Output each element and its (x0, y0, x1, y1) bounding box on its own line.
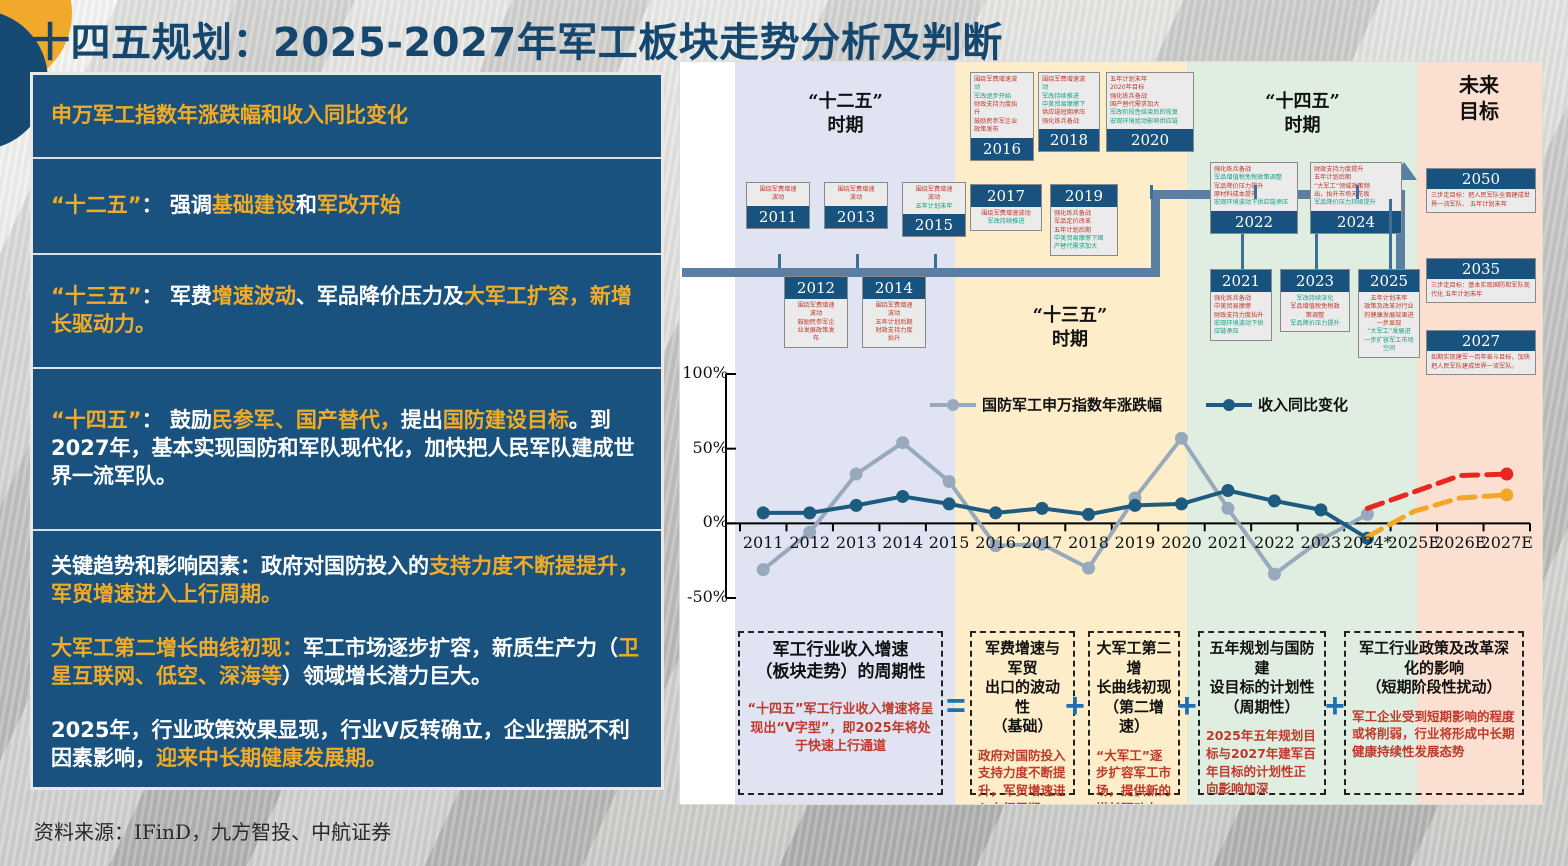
year-card-body-2014: 围绕军费增速波动五年计划后期财政支持力度抬升 (863, 299, 925, 347)
formula-box-sub-3: 2025年五年规划目标与2027年建军百年目标的计划性正向影响加深 (1206, 727, 1318, 798)
year-card-line: 抬升 (866, 335, 922, 343)
year-card-line: 中美贸易摩擦 (1214, 303, 1268, 311)
period-label-future: 未来 目标 (1424, 72, 1534, 125)
left-panel-header: 申万军工指数年涨跌幅和收入同比变化 (33, 75, 661, 159)
year-card-2025[interactable]: 2025五年计划末年政策及改革对行业的健康发展效果进一步显现“大军工”发展进一步… (1358, 269, 1420, 358)
left-panel-trend-1: 关键趋势和影响因素：政府对国防投入的支持力度不断提提升，军贸增速进入上行周期。 (51, 553, 643, 609)
year-card-line: 波动 (750, 194, 806, 202)
year-card-header-2012: 2012 (785, 277, 847, 299)
year-card-line: 军品降价压力提升 (1284, 320, 1346, 328)
year-card-2011[interactable]: 围绕军费增速波动2011 (746, 182, 810, 229)
year-card-line: 军品增值税免税政 (1284, 303, 1346, 311)
year-card-line: 军品增值税免税政策调整 (1214, 174, 1294, 182)
year-card-line: 五年计划末年 (906, 203, 962, 211)
formula-title-line: （基础） (978, 717, 1067, 737)
year-card-line: 五年计划后期 (866, 319, 922, 327)
left-panel-row-135: “十三五”： 军费增速波动、军品降价压力及大军工扩容，新增长驱动力。 (33, 255, 661, 369)
chart-card: “十二五” 时期 “十三五” 时期 “十四五” 时期 未来 目标 围绕军费增速波… (680, 62, 1542, 804)
year-card-connector (1389, 199, 1392, 269)
year-card-line: 强化练兵备战 (1110, 93, 1190, 101)
year-card-line: 供应链短期承压 (1042, 109, 1096, 117)
year-card-header-2025: 2025 (1359, 270, 1419, 292)
year-card-body-2018: 围绕军费增速波动军改持续推进中美贸易摩擦下供应链短期承压强化练兵备战 (1039, 73, 1099, 129)
series-point-0-3 (896, 436, 909, 449)
left-panel-trend-2: 大军工第二增长曲线初现：军工市场逐步扩容，新质生产力（卫星互联网、低空、深海等）… (51, 635, 643, 691)
formula-box-sub-0: “十四五”军工行业收入增速将呈现出“V字型”，即2025年将处于快速上行通道 (746, 701, 935, 756)
year-card-line: 围绕军费增速波 (1042, 76, 1096, 84)
formula-title-line: 军工行业政策及改革深 (1352, 639, 1516, 659)
year-card-line: 财政支持力度抬升 (1214, 312, 1268, 320)
year-card-body-2025: 五年计划末年政策及改革对行业的健康发展效果进一步显现“大军工”发展进一步扩容军工… (1359, 292, 1419, 357)
series-point-1-1 (803, 506, 816, 519)
year-card-line: 政策发布 (974, 126, 1030, 134)
left-summary-panel: 申万军工指数年涨跌幅和收入同比变化 “十二五”： 强调基础建设和军改开始 “十三… (30, 72, 664, 790)
series-point-0-0 (757, 563, 770, 576)
left-panel-row-135-text: “十三五”： 军费增速波动、军品降价压力及大军工扩容，新增长驱动力。 (51, 283, 643, 339)
future-card-2050[interactable]: 2050三步走目标：把人民军队全面建成世界一流军队、 五年计划末年 (1426, 168, 1536, 213)
year-card-header-2023: 2023 (1281, 270, 1349, 292)
series-point-1-6 (1036, 502, 1049, 515)
legend-label-index: 国防军工申万指数年涨跌幅 (982, 394, 1162, 415)
left-panel-row-145: “十四五”： 鼓励民参军、国产替代，提出国防建设目标。到2027年，基本实现国防… (33, 369, 661, 531)
formula-box-title-4: 军工行业政策及改革深化的影响（短期阶段性扰动） (1352, 639, 1516, 698)
year-card-line: 波动 (788, 310, 844, 318)
year-card-header-2024: 2024 (1311, 211, 1401, 233)
series-point-0-11 (1268, 568, 1281, 581)
formula-operator-+: + (1177, 689, 1197, 723)
future-card-body-2050: 三步走目标：把人民军队全面建成世界一流军队、 五年计划末年 (1427, 189, 1535, 212)
year-card-line: 应链承压 (1214, 328, 1268, 336)
year-card-line: 军品定价改革 (1054, 218, 1114, 226)
year-card-header-2022: 2022 (1211, 211, 1297, 233)
left-panel-trend-3: 2025年，行业政策效果显现，行业V反转确立，企业摆脱不利因素影响，迎来中长期健… (51, 717, 643, 773)
formula-box-4[interactable]: 军工行业政策及改革深化的影响（短期阶段性扰动）军工企业受到短期影响的程度或将削弱… (1344, 631, 1524, 795)
series-point-1-3 (896, 490, 909, 503)
year-card-line: 政策及改革对行业 (1362, 303, 1416, 311)
year-card-body-2012: 围绕军费增速波动鼓励民参军企业发展政策发布 (785, 299, 847, 347)
year-card-line: 动 (1042, 84, 1096, 92)
left-panel-row-145-text: “十四五”： 鼓励民参军、国产替代，提出国防建设目标。到2027年，基本实现国防… (51, 407, 643, 491)
period-label-135: “十三五” 时期 (970, 304, 1170, 352)
year-card-body-2013: 围绕军费增速波动 (825, 183, 887, 206)
formula-operator-+: + (1065, 689, 1085, 723)
year-card-header-2021: 2021 (1211, 270, 1271, 292)
series-point-1-10 (1221, 484, 1234, 497)
year-card-line: 强化练兵备战 (1042, 118, 1096, 126)
formula-title-line: 化的影响 (1352, 659, 1516, 679)
year-card-line: 军改持续推进 (1042, 93, 1096, 101)
year-card-line: 2020年目标 (1110, 84, 1190, 92)
series-point-0-7 (1082, 562, 1095, 575)
legend-label-revenue: 收入同比变化 (1258, 394, 1348, 415)
formula-title-line: （第二增速） (1096, 698, 1172, 737)
future-card-header-2050: 2050 (1427, 169, 1535, 189)
formula-row: 军工行业收入增速（板块走势）的周期性“十四五”军工行业收入增速将呈现出“V字型”… (680, 627, 1542, 804)
chart-legend: 国防军工申万指数年涨跌幅 收入同比变化 (930, 394, 1348, 415)
legend-item-index: 国防军工申万指数年涨跌幅 (930, 394, 1162, 415)
year-card-body-2019: 强化练兵备战军品定价改革五年计划后期中美贸易摩擦下国产替代需求加大 (1051, 207, 1117, 255)
formula-title-line: 长曲线初现 (1096, 678, 1172, 698)
year-card-header-2013: 2013 (825, 206, 887, 228)
formula-box-sub-4: 军工企业受到短期影响的程度或将削弱，行业将形成中长期健康持续性发展态势 (1352, 708, 1516, 761)
year-card-connector (934, 254, 937, 268)
series-point-1-4 (943, 497, 956, 510)
year-card-line: 军品降价压力持续提升 (1314, 199, 1398, 207)
series-point-1-2 (850, 499, 863, 512)
year-card-line: 围绕军费增速波 (974, 76, 1030, 84)
year-card-connector (1356, 185, 1359, 199)
left-panel-row-125: “十二五”： 强调基础建设和军改开始 (33, 159, 661, 255)
formula-box-title-1: 军费增速与军贸出口的波动性（基础） (978, 639, 1067, 737)
timeline-spine-left (682, 268, 752, 277)
series-point-1-0 (757, 506, 770, 519)
legend-swatch-index (930, 403, 976, 407)
year-card-line: 的健康发展效果进 (1362, 312, 1416, 320)
year-card-2023[interactable]: 2023军改持续深化军品增值税免税政策调整军品降价压力提升 (1280, 269, 1350, 332)
y-axis-label: 50% (680, 438, 728, 457)
year-card-line: 军改阶段性结束后的恢复 (1110, 109, 1190, 117)
formula-box-title-0: 军工行业收入增速（板块走势）的周期性 (746, 639, 935, 683)
year-card-body-2011: 围绕军费增速波动 (747, 183, 809, 206)
year-card-line: 鼓励民参军企 (788, 319, 844, 327)
year-card-2012[interactable]: 2012围绕军费增速波动鼓励民参军企业发展政策发布 (784, 276, 848, 348)
year-card-line: 财政支持力度抬 (974, 101, 1030, 109)
series-point-0-4 (943, 475, 956, 488)
formula-operator-=: = (946, 689, 966, 723)
year-card-line: 波动 (828, 194, 884, 202)
year-card-2021[interactable]: 2021强化练兵备战中美贸易摩擦财政支持力度抬升宏观环境波动下供应链承压 (1210, 269, 1272, 341)
year-card-line: 五年计划后期 (1314, 174, 1398, 182)
year-card-line: 波动 (866, 310, 922, 318)
formula-title-line: 设目标的计划性 (1206, 678, 1318, 698)
year-card-line: 五年计划后期 (1054, 227, 1114, 235)
y-axis-label: -50% (680, 587, 728, 606)
formula-title-line: （短期阶段性扰动） (1352, 678, 1516, 698)
series-point-0-2 (850, 468, 863, 481)
year-card-2020[interactable]: 五年计划末年2020年目标强化练兵备战国产替代需求加大军改阶段性结束后的恢复宏观… (1106, 72, 1194, 152)
future-card-2035[interactable]: 2035三步走目标：基本实现国防和军队现代化 五年计划末年 (1426, 258, 1536, 303)
year-card-line: 鼓励民参军企业 (974, 118, 1030, 126)
series-point-0-10 (1221, 502, 1234, 515)
year-card-connector (1254, 185, 1257, 199)
year-card-connector (856, 254, 859, 268)
year-card-body-2020: 五年计划末年2020年目标强化练兵备战国产替代需求加大军改阶段性结束后的恢复宏观… (1107, 73, 1193, 129)
year-card-connector (778, 254, 781, 268)
series-point-2-16 (1500, 468, 1513, 481)
year-card-line: 宏观环境扰动影响供应链 (1110, 118, 1190, 126)
future-card-body-2035: 三步走目标：基本实现国防和军队现代化 五年计划末年 (1427, 279, 1535, 302)
series-point-1-5 (989, 506, 1002, 519)
year-card-line: 布 (788, 335, 844, 343)
year-card-header-2011: 2011 (747, 206, 809, 228)
year-card-line: 空间 (1362, 345, 1416, 353)
year-card-2014[interactable]: 2014围绕军费增速波动五年计划后期财政支持力度抬升 (862, 276, 926, 348)
future-card-header-2027: 2027 (1427, 331, 1535, 351)
formula-box-0[interactable]: 军工行业收入增速（板块走势）的周期性“十四五”军工行业收入增速将呈现出“V字型”… (738, 631, 943, 795)
series-point-1-7 (1082, 508, 1095, 521)
y-axis-label: 100% (680, 363, 728, 382)
x-axis-label: 2027E (1480, 533, 1534, 552)
year-card-body-2023: 军改持续深化军品增值税免税政策调整军品降价压力提升 (1281, 292, 1349, 331)
formula-title-line: （周期性） (1206, 698, 1318, 718)
formula-title-line: （板块走势）的周期性 (746, 661, 935, 683)
period-label-125: “十二五” 时期 (758, 90, 933, 138)
year-card-connector (1150, 185, 1153, 199)
formula-title-line: 军费增速与军贸 (978, 639, 1067, 678)
year-card-body-2016: 围绕军费增速波动军改逐步开始财政支持力度抬升鼓励民参军企业政策发布 (971, 73, 1033, 138)
formula-box-title-3: 五年规划与国防建设目标的计划性（周期性） (1206, 639, 1318, 717)
formula-title-line: 出口的波动性 (978, 678, 1067, 717)
year-card-line: 策调整 (1284, 312, 1346, 320)
y-axis-label: 0% (680, 512, 728, 531)
year-card-header-2014: 2014 (863, 277, 925, 299)
year-card-header-2020: 2020 (1107, 129, 1193, 151)
timeline-spine-riser (1151, 190, 1160, 276)
left-panel-row-125-text: “十二五”： 强调基础建设和军改开始 (51, 192, 401, 220)
year-card-2013[interactable]: 围绕军费增速波动2013 (824, 182, 888, 229)
page-title: 十四五规划：2025-2027年军工板块走势分析及判断 (30, 10, 1003, 68)
series-point-0-9 (1175, 432, 1188, 445)
year-card-line: 军改持续推进 (974, 218, 1038, 226)
period-label-145: “十四五” 时期 (1205, 90, 1400, 138)
year-card-2015[interactable]: 围绕军费增速波动五年计划末年2015 (902, 182, 966, 237)
year-card-line: 动 (974, 84, 1030, 92)
year-card-body-2017: 围绕军费增速波动军改持续推进 (971, 207, 1041, 230)
formula-box-1[interactable]: 军费增速与军贸出口的波动性（基础）政府对国防投入支持力度不断提升，军贸增速进入上… (970, 631, 1075, 795)
series-point-1-12 (1314, 503, 1327, 516)
year-card-line: 一步扩容军工市场 (1362, 337, 1416, 345)
source-note: 资料来源：IFinD，九方智投、中航证券 (34, 816, 391, 845)
year-card-header-2018: 2018 (1039, 129, 1099, 151)
year-card-line: “大军工”发展进 (1362, 328, 1416, 336)
left-panel-header-text: 申万军工指数年涨跌幅和收入同比变化 (51, 102, 408, 130)
formula-title-line: 五年规划与国防建 (1206, 639, 1318, 678)
year-card-header-2019: 2019 (1051, 185, 1117, 207)
series-point-1-11 (1268, 494, 1281, 507)
year-card-line: 宏观环境波动下供应链承压 (1214, 199, 1294, 207)
series-point-3-16 (1500, 488, 1513, 501)
year-card-2018[interactable]: 围绕军费增速波动军改持续推进中美贸易摩擦下供应链短期承压强化练兵备战2018 (1038, 72, 1100, 152)
year-card-line: 产替代需求加大 (1054, 243, 1114, 251)
year-card-line: 波动 (906, 194, 962, 202)
year-card-header-2017: 2017 (971, 185, 1041, 207)
year-card-2017[interactable]: 2017围绕军费增速波动军改持续推进 (970, 184, 1042, 231)
formula-title-line: 大军工第二增 (1096, 639, 1172, 678)
formula-box-3[interactable]: 五年规划与国防建设目标的计划性（周期性）2025年五年规划目标与2027年建军百… (1198, 631, 1326, 795)
formula-operator-+: + (1325, 689, 1345, 723)
series-point-1-9 (1175, 497, 1188, 510)
formula-box-2[interactable]: 大军工第二增长曲线初现（第二增速）“大军工”逐步扩容军工市场，提供新的增长驱动力 (1088, 631, 1180, 795)
series-point-1-8 (1129, 499, 1142, 512)
year-card-header-2015: 2015 (903, 214, 965, 236)
formula-box-sub-1: 政府对国防投入支持力度不断提升，军贸增速进入上行周期 (978, 747, 1067, 805)
formula-box-title-2: 大军工第二增长曲线初现（第二增速） (1096, 639, 1172, 737)
year-card-body-2021: 强化练兵备战中美贸易摩擦财政支持力度抬升宏观环境波动下供应链承压 (1211, 292, 1271, 340)
legend-item-revenue: 收入同比变化 (1206, 394, 1348, 415)
year-card-header-2016: 2016 (971, 138, 1033, 160)
formula-title-line: 军工行业收入增速 (746, 639, 935, 661)
year-card-body-2015: 围绕军费增速波动五年计划末年 (903, 183, 965, 214)
year-card-line: 军改逐步开始 (974, 93, 1030, 101)
legend-swatch-revenue (1206, 403, 1252, 407)
future-card-header-2035: 2035 (1427, 259, 1535, 279)
formula-box-sub-2: “大军工”逐步扩容军工市场，提供新的增长驱动力 (1096, 747, 1172, 805)
year-card-line: 升 (974, 109, 1030, 117)
left-panel-row-trends: 关键趋势和影响因素：政府对国防投入的支持力度不断提提升，军贸增速进入上行周期。 … (33, 531, 661, 787)
year-card-2019[interactable]: 2019强化练兵备战军品定价改革五年计划后期中美贸易摩擦下国产替代需求加大 (1050, 184, 1118, 256)
year-card-2016[interactable]: 围绕军费增速波动军改逐步开始财政支持力度抬升鼓励民参军企业政策发布2016 (970, 72, 1034, 161)
